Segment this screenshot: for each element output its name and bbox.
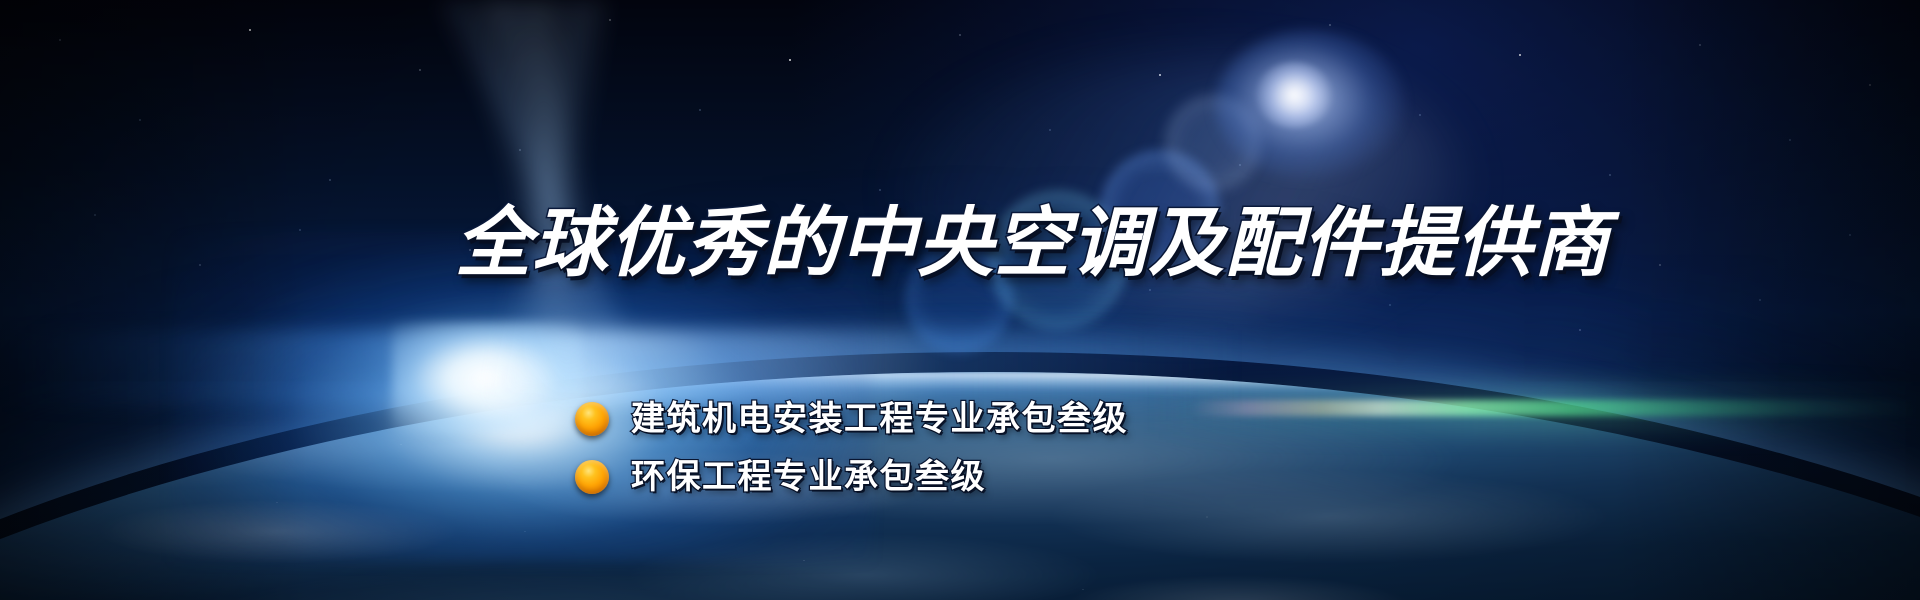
banner-headline: 全球优秀的中央空调及配件提供商 xyxy=(455,205,1610,281)
banner-content: 全球优秀的中央空调及配件提供商 建筑机电安装工程专业承包叁级 环保工程专业承包叁… xyxy=(0,0,1920,600)
bullet-label: 建筑机电安装工程专业承包叁级 xyxy=(631,402,1128,436)
hero-banner: 全球优秀的中央空调及配件提供商 建筑机电安装工程专业承包叁级 环保工程专业承包叁… xyxy=(0,0,1920,600)
bullet-label: 环保工程专业承包叁级 xyxy=(631,460,986,494)
orange-dot-icon xyxy=(575,402,609,436)
list-item: 环保工程专业承包叁级 xyxy=(575,448,1128,506)
banner-bullet-list: 建筑机电安装工程专业承包叁级 环保工程专业承包叁级 xyxy=(575,390,1128,506)
list-item: 建筑机电安装工程专业承包叁级 xyxy=(575,390,1128,448)
orange-dot-icon xyxy=(575,460,609,494)
